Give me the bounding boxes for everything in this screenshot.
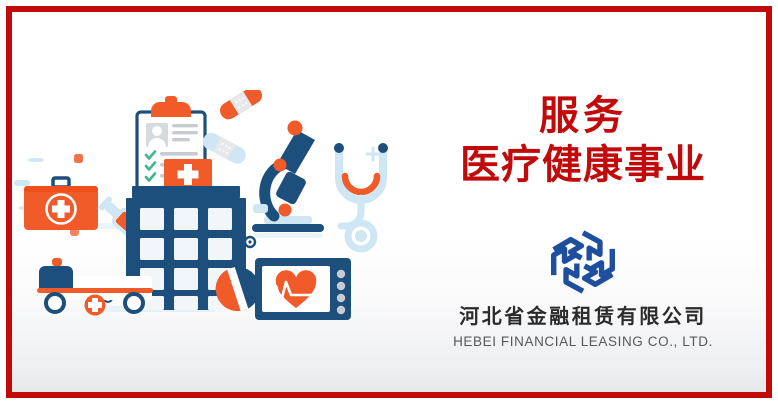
company-name-en: HEBEI FINANCIAL LEASING CO., LTD.: [400, 334, 766, 349]
heart-monitor-icon: [255, 258, 351, 320]
headline-line-2: 医疗健康事业: [400, 141, 766, 190]
first-aid-kit-icon: [24, 178, 98, 230]
poster-root: 服务 医疗健康事业 河北省金融租赁有限公司 HEBEI FINANCIAL LE…: [0, 0, 778, 404]
microscope-icon: [252, 121, 324, 233]
headline-line-1: 服务: [400, 92, 766, 141]
company-name-cn: 河北省金融租赁有限公司: [400, 305, 766, 330]
hebei-financial-leasing-logo: [544, 225, 622, 299]
headline: 服务 医疗健康事业: [400, 92, 766, 190]
medical-healthcare-illustration: [12, 90, 402, 340]
brand-block: 河北省金融租赁有限公司 HEBEI FINANCIAL LEASING CO.,…: [400, 225, 766, 349]
hospital-cross-sign-icon: [164, 159, 212, 189]
bandage-plasters-icon: [217, 90, 265, 122]
stethoscope-icon: [334, 143, 388, 249]
right-content-panel: 服务 医疗健康事业 河北省金融租赁有限公司 HEBEI FINANCIAL LE…: [400, 20, 766, 384]
